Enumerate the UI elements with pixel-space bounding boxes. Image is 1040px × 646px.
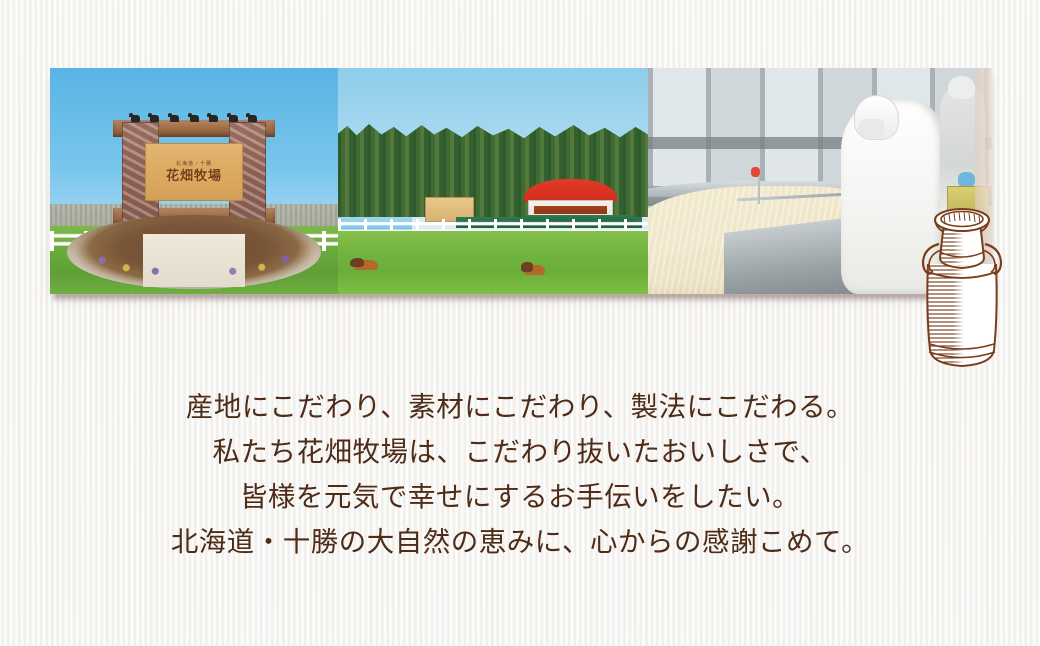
brand-message: 産地にこだわり、素材にこだわり、製法にこだわる。 私たち花畑牧場は、こだわり抜い…	[0, 384, 1040, 564]
flowers	[73, 231, 315, 281]
pig-silhouette-icon	[150, 115, 159, 122]
milk-can-illustration	[906, 192, 1018, 382]
message-line-4: 北海道・十勝の大自然の恵みに、心からの感謝こめて。	[0, 519, 1040, 564]
horse-silhouette-icon	[229, 115, 238, 122]
worker-hood-and-mask	[854, 95, 899, 140]
rooster-silhouette-icon	[190, 115, 199, 122]
message-line-3: 皆様を元気で幸せにするお手伝いをしたい。	[0, 474, 1040, 519]
cow-silhouette-icon	[131, 115, 140, 122]
harp-handle-knob-left	[751, 167, 760, 177]
message-line-1: 産地にこだわり、素材にこだわり、製法にこだわる。	[0, 384, 1040, 429]
photo-pasture-with-cattle	[338, 68, 648, 294]
signboard-region-text: 北海道・十勝	[176, 162, 212, 167]
dog-silhouette-icon	[248, 115, 257, 122]
sheep-silhouette-icon	[170, 115, 179, 122]
photo-strip: 北海道・十勝 花畑牧場	[50, 68, 992, 294]
photo-ranch-entrance-sign: 北海道・十勝 花畑牧場	[50, 68, 338, 294]
cow-lying-left	[354, 258, 394, 272]
harp-handle-stem-left	[758, 176, 760, 203]
animal-silhouettes	[131, 108, 258, 123]
barn-red-roof	[524, 179, 617, 202]
photo-strip-shadow	[54, 294, 992, 302]
goat-silhouette-icon	[209, 115, 218, 122]
message-line-2: 私たち花畑牧場は、こだわり抜いたおいしさで、	[0, 429, 1040, 474]
ranch-signboard: 北海道・十勝 花畑牧場	[145, 143, 243, 202]
cow-lying-right	[524, 262, 558, 276]
signboard-ranch-name: 花畑牧場	[166, 169, 222, 182]
